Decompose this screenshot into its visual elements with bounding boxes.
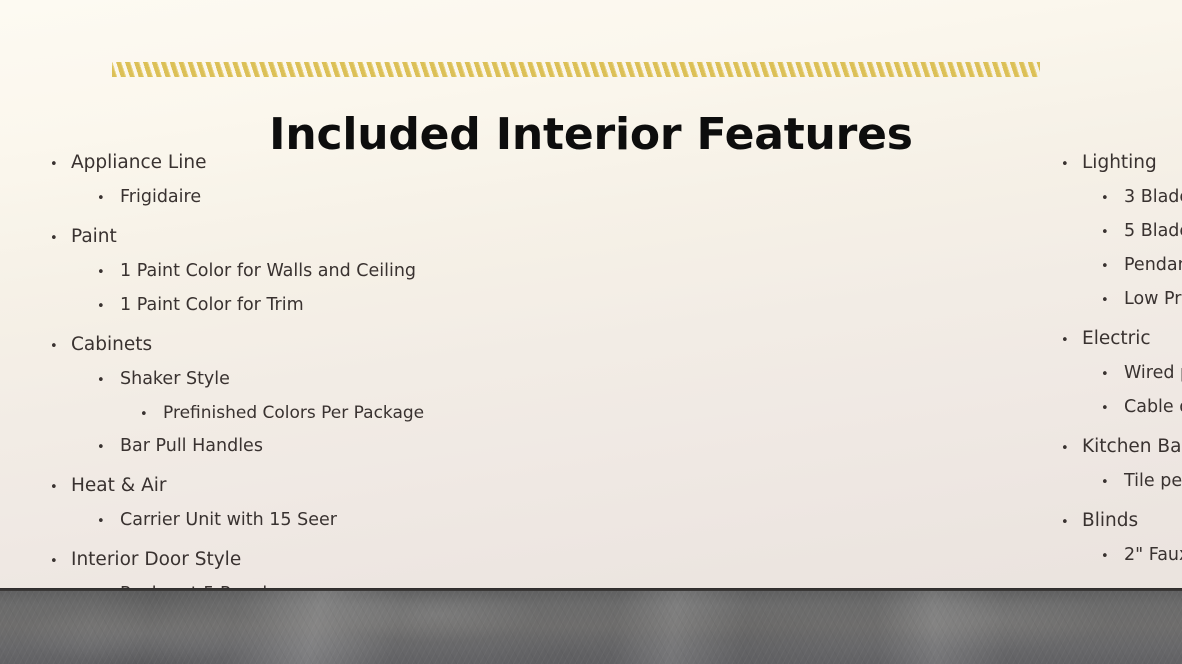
bullet-item-label: Frigidaire [119, 185, 505, 210]
bullet-item-label: Prefinished Colors Per Package [162, 401, 505, 425]
bullet-item-label: Kitchen Backsplash [1081, 434, 1182, 460]
bullet-item: •Prefinished Colors Per Package [44, 401, 505, 425]
bullet-columns: •Appliance Line•Frigidaire•Paint•1 Paint… [0, 150, 1182, 641]
bullet-point-icon: • [1061, 516, 1081, 529]
bullet-item-label: Paint [70, 224, 505, 250]
bullet-item: •Low Profile Can Lights throughout [1055, 287, 1182, 312]
bullet-point-icon: • [1101, 476, 1123, 489]
bullet-item-label: 1 Paint Color for Walls and Ceiling [119, 259, 505, 284]
bullet-item: •Blinds [1055, 508, 1182, 534]
bullet-item-label: 5 Blade Ceiling Fan with Light Kits in L… [1123, 219, 1182, 244]
bullet-item-label: Shaker Style [119, 367, 505, 392]
bullet-item-label: Electric [1081, 326, 1182, 352]
bullet-item: •3 Blade Ceiling Fans with Light Kit in … [1055, 185, 1182, 210]
bullet-point-icon: • [1061, 442, 1081, 455]
bullet-item: •Bar Pull Handles [44, 434, 505, 459]
bullet-item-label: Wired per City Code [1123, 361, 1182, 386]
bullet-item-label: Heat & Air [70, 473, 505, 499]
bullet-point-icon: • [50, 158, 70, 171]
bullet-item: •Cable outlets in Bedrooms and above Fir… [1055, 395, 1182, 420]
bullet-item-label: Low Profile Can Lights throughout [1123, 287, 1182, 312]
bullet-item-label: Tile per Package [1123, 469, 1182, 494]
bullet-item-label: Interior Door Style [70, 547, 505, 573]
presentation-slide: Included Interior Features •Appliance Li… [0, 0, 1182, 664]
bullet-point-icon: • [50, 555, 70, 568]
bullet-item: •Cabinets [44, 332, 505, 358]
bullet-point-icon: • [1101, 368, 1123, 381]
bullet-item-label: 2" Faux Wood- White [1123, 543, 1182, 568]
bullet-item: •Paint [44, 224, 505, 250]
bullet-item: •Frigidaire [44, 185, 505, 210]
bullet-point-icon: • [97, 441, 119, 454]
bullet-point-icon: • [97, 266, 119, 279]
bullet-item: •Heat & Air [44, 473, 505, 499]
bullet-item-label: Carrier Unit with 15 Seer [119, 508, 505, 533]
bullet-item: •Shaker Style [44, 367, 505, 392]
bullet-point-icon: • [1061, 158, 1081, 171]
bullet-point-icon: • [1101, 402, 1123, 415]
floor-image-band [0, 588, 1182, 664]
bullet-point-icon: • [1101, 260, 1123, 273]
bullet-item: •Tile per Package [1055, 469, 1182, 494]
gold-hatched-divider-icon [112, 62, 1040, 77]
bullet-item-label: 3 Blade Ceiling Fans with Light Kit in A… [1123, 185, 1182, 210]
bullet-item: •Electric [1055, 326, 1182, 352]
bullet-point-icon: • [140, 408, 162, 421]
bullet-point-icon: • [1101, 550, 1123, 563]
bullet-item-label: Cable outlets in Bedrooms and above Fire… [1123, 395, 1182, 420]
bullet-point-icon: • [97, 192, 119, 205]
bullet-item: •Kitchen Backsplash [1055, 434, 1182, 460]
bullet-point-icon: • [1101, 192, 1123, 205]
bullet-column-left: •Appliance Line•Frigidaire•Paint•1 Paint… [0, 150, 505, 641]
bullet-item: •Interior Door Style [44, 547, 505, 573]
bullet-item: •Appliance Line [44, 150, 505, 176]
bullet-item-label: Appliance Line [70, 150, 505, 176]
bullet-item: •1 Paint Color for Trim [44, 293, 505, 318]
bullet-item: •2" Faux Wood- White [1055, 543, 1182, 568]
bullet-point-icon: • [50, 481, 70, 494]
bullet-item: •5 Blade Ceiling Fan with Light Kits in … [1055, 219, 1182, 244]
bullet-point-icon: • [1101, 294, 1123, 307]
bullet-item-label: Blinds [1081, 508, 1182, 534]
bullet-point-icon: • [97, 374, 119, 387]
bullet-item-label: Lighting [1081, 150, 1182, 176]
bullet-item-label: Cabinets [70, 332, 505, 358]
bullet-point-icon: • [50, 232, 70, 245]
bullet-column-right: •Lighting•3 Blade Ceiling Fans with Ligh… [505, 150, 1182, 641]
bullet-item: •Wired per City Code [1055, 361, 1182, 386]
bullet-point-icon: • [50, 340, 70, 353]
bullet-item: •1 Paint Color for Walls and Ceiling [44, 259, 505, 284]
bullet-item: •Lighting [1055, 150, 1182, 176]
bullet-item-label: Pendants at Island per plan [1123, 253, 1182, 278]
bullet-point-icon: • [1101, 226, 1123, 239]
bullet-point-icon: • [97, 515, 119, 528]
bullet-item: •Pendants at Island per plan [1055, 253, 1182, 278]
bullet-item-label: Bar Pull Handles [119, 434, 505, 459]
bullet-item: •Carrier Unit with 15 Seer [44, 508, 505, 533]
bullet-point-icon: • [97, 300, 119, 313]
bullet-item-label: 1 Paint Color for Trim [119, 293, 505, 318]
bullet-point-icon: • [1061, 334, 1081, 347]
